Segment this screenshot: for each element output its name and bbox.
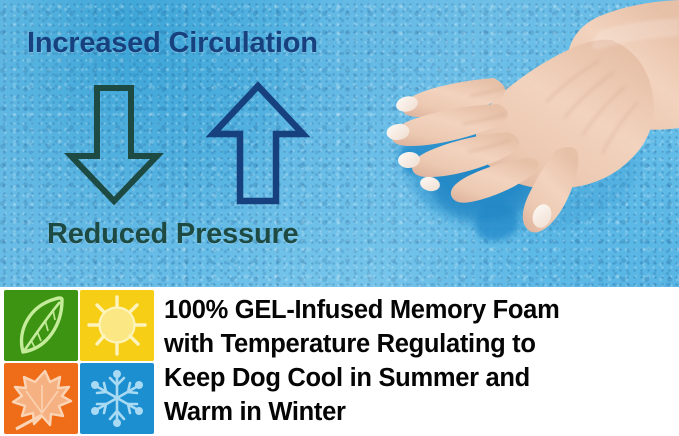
sun-icon [80,290,154,361]
season-tile-spring [4,290,78,361]
memory-foam-hero-image: Increased Circulation Reduced Pressure [0,0,679,287]
down-arrow-icon [62,82,166,208]
season-tile-autumn [4,363,78,434]
feature-description: 100% GEL-Infused Memory Foam with Temper… [164,293,676,429]
increased-circulation-label: Increased Circulation [27,27,318,60]
feature-line-3: Keep Dog Cool in Summer and [164,361,676,395]
snowflake-icon [80,363,154,434]
product-feature-poster: Increased Circulation Reduced Pressure [0,0,679,436]
leaf-icon [4,290,78,361]
season-icon-grid [4,290,154,434]
feature-line-2: with Temperature Regulating to [164,327,676,361]
up-arrow-icon [203,78,313,208]
season-tile-summer [80,290,154,361]
feature-line-4: Warm in Winter [164,395,676,429]
reduced-pressure-label: Reduced Pressure [47,218,298,251]
season-tile-winter [80,363,154,434]
feature-line-1: 100% GEL-Infused Memory Foam [164,293,676,327]
maple-leaf-icon [4,363,78,434]
feature-info-panel: 100% GEL-Infused Memory Foam with Temper… [0,287,679,436]
